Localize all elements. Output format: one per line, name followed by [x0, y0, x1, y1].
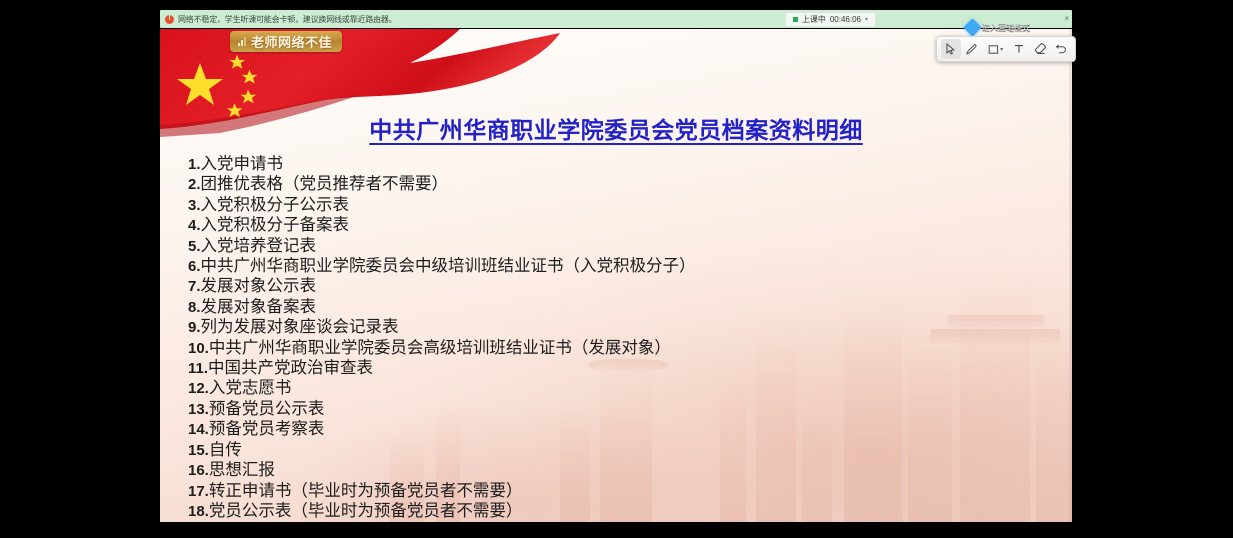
slide-scrollbar[interactable] — [1069, 29, 1072, 522]
list-item: 2.团推优表格（党员推荐者不需要） — [188, 174, 1052, 194]
list-item: 11.中国共产党政治审查表 — [188, 358, 1052, 378]
list-item-number: 4. — [188, 217, 201, 234]
annotation-tooltip-label: 进入画笔模式 — [982, 22, 1030, 33]
notification-message: 网络不稳定，学生听课可能会卡顿，建议换网线或靠近路由器。 — [178, 14, 396, 25]
list-item-number: 1. — [188, 156, 201, 173]
list-item-number: 2. — [188, 176, 201, 193]
list-item-number: 12. — [188, 380, 209, 397]
brush-mode-icon — [963, 18, 981, 36]
signal-bars-icon — [238, 37, 246, 46]
list-item: 1.入党申请书 — [188, 154, 1052, 174]
list-item-number: 13. — [188, 401, 209, 418]
list-item: 14.预备党员考察表 — [188, 419, 1052, 439]
list-item-label: 入党培养登记表 — [201, 236, 317, 255]
page-title: 中共广州华商职业学院委员会党员档案资料明细 — [160, 111, 1072, 145]
list-item-number: 15. — [188, 442, 209, 459]
list-item: 12.入党志愿书 — [188, 378, 1052, 398]
list-item-label: 中国共产党政治审查表 — [208, 358, 373, 377]
list-item-label: 转正申请书（毕业时为预备党员者不需要） — [209, 481, 523, 500]
list-item: 16.思想汇报 — [188, 460, 1052, 480]
annotation-mode-tooltip: 进入画笔模式 — [966, 21, 1030, 34]
list-item: 18.党员公示表（毕业时为预备党员者不需要） — [188, 501, 1052, 521]
list-item-label: 发展对象备案表 — [201, 297, 317, 316]
class-timer[interactable]: 上课中 00:46:06 ▾ — [785, 12, 876, 27]
undo-tool[interactable] — [1051, 39, 1071, 59]
list-item-number: 18. — [188, 503, 209, 520]
list-item: 10.中共广州华商职业学院委员会高级培训班结业证书（发展对象） — [188, 338, 1052, 358]
list-item: 3.入党积极分子公示表 — [188, 195, 1052, 215]
list-item: 4.入党积极分子备案表 — [188, 215, 1052, 235]
list-item-label: 入党积极分子备案表 — [201, 215, 350, 234]
class-elapsed-time: 00:46:06 — [830, 15, 861, 24]
list-item-label: 思想汇报 — [209, 460, 275, 479]
list-item-number: 8. — [188, 299, 201, 316]
list-item: 6.中共广州华商职业学院委员会中级培训班结业证书（入党积极分子） — [188, 256, 1052, 276]
list-item-number: 7. — [188, 278, 201, 295]
cursor-tool[interactable] — [941, 39, 961, 59]
class-status-label: 上课中 — [802, 14, 826, 25]
close-icon[interactable]: × — [1064, 14, 1069, 24]
list-item-number: 16. — [188, 462, 209, 479]
list-item: 9.列为发展对象座谈会记录表 — [188, 317, 1052, 337]
app-root: 网络不稳定，学生听课可能会卡顿，建议换网线或靠近路由器。 上课中 00:46:0… — [0, 0, 1233, 538]
list-item-number: 11. — [188, 360, 208, 377]
list-item-label: 团推优表格（党员推荐者不需要） — [201, 174, 449, 193]
list-item-number: 5. — [188, 238, 201, 255]
list-item-number: 6. — [188, 258, 201, 275]
list-item-label: 入党积极分子公示表 — [201, 195, 350, 214]
list-item-number: 14. — [188, 421, 209, 438]
list-item-label: 预备党员公示表 — [209, 399, 325, 418]
list-item: 7.发展对象公示表 — [188, 276, 1052, 296]
chevron-down-icon[interactable]: ▾ — [865, 16, 868, 23]
list-item-number: 17. — [188, 483, 209, 500]
pen-tool[interactable] — [962, 39, 982, 59]
recording-dot-icon — [793, 17, 798, 22]
list-item-number: 3. — [188, 197, 201, 214]
list-item: 17.转正申请书（毕业时为预备党员者不需要） — [188, 481, 1052, 501]
shape-tool[interactable]: ▾ — [983, 39, 1009, 59]
slide-stage[interactable]: 老师网络不佳 中共广州华商职业学院委员会党员档案资料明细 1.入党申请书 2.团… — [160, 29, 1072, 522]
list-item-number: 10. — [188, 340, 209, 357]
eraser-tool[interactable] — [1030, 39, 1050, 59]
list-item-label: 发展对象公示表 — [201, 276, 317, 295]
warning-icon — [165, 15, 174, 24]
list-item-label: 自传 — [209, 440, 242, 459]
list-item-label: 列为发展对象座谈会记录表 — [201, 317, 399, 336]
text-tool[interactable] — [1009, 39, 1029, 59]
list-item-label: 党员公示表（毕业时为预备党员者不需要） — [209, 501, 523, 520]
notification-message-group: 网络不稳定，学生听课可能会卡顿，建议换网线或靠近路由器。 — [160, 14, 785, 25]
list-item-label: 中共广州华商职业学院委员会中级培训班结业证书（入党积极分子） — [201, 256, 696, 275]
list-item: 15.自传 — [188, 440, 1052, 460]
teacher-network-badge: 老师网络不佳 — [230, 31, 342, 52]
list-item-label: 中共广州华商职业学院委员会高级培训班结业证书（发展对象） — [209, 338, 671, 357]
list-item-label: 预备党员考察表 — [209, 419, 325, 438]
list-item: 8.发展对象备案表 — [188, 297, 1052, 317]
document-checklist: 1.入党申请书 2.团推优表格（党员推荐者不需要） 3.入党积极分子公示表 4.… — [188, 154, 1052, 521]
list-item-label: 入党志愿书 — [209, 378, 292, 397]
annotation-toolbar[interactable]: ▾ — [936, 36, 1076, 62]
chevron-down-icon[interactable]: ▾ — [1000, 46, 1003, 53]
list-item-number: 9. — [188, 319, 201, 336]
teacher-network-label: 老师网络不佳 — [251, 32, 332, 51]
list-item-label: 入党申请书 — [201, 154, 284, 173]
list-item: 13.预备党员公示表 — [188, 399, 1052, 419]
list-item: 5.入党培养登记表 — [188, 236, 1052, 256]
notification-bar: 网络不稳定，学生听课可能会卡顿，建议换网线或靠近路由器。 上课中 00:46:0… — [160, 10, 1072, 28]
